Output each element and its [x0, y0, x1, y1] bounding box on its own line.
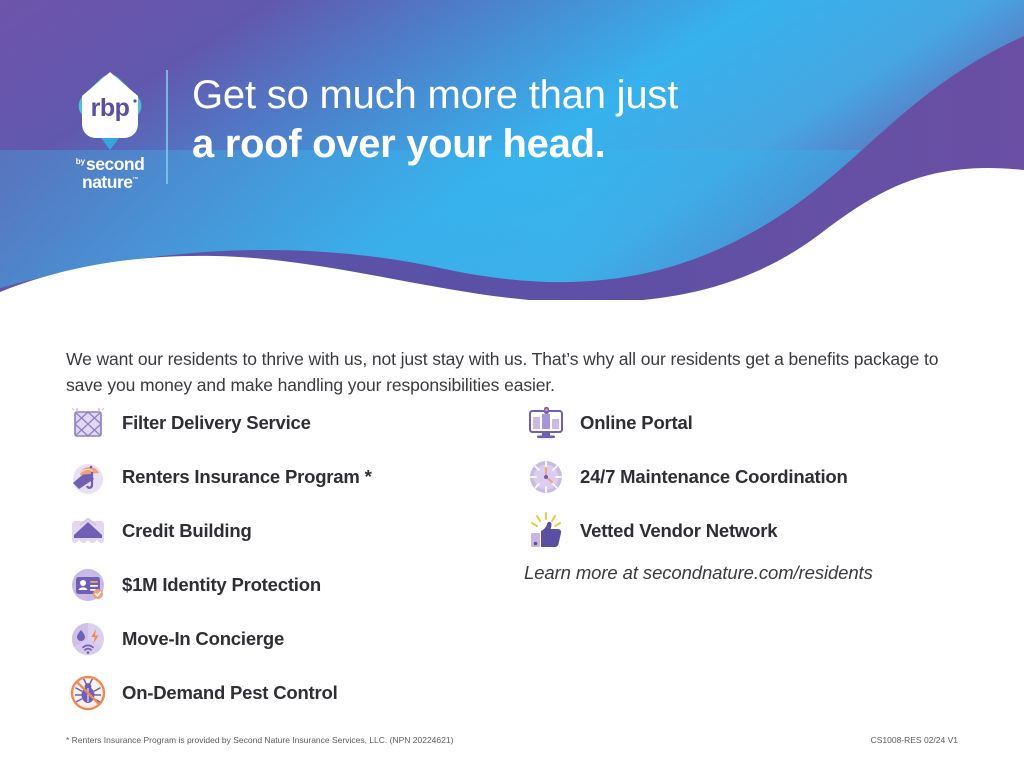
benefit-label: Filter Delivery Service: [122, 412, 311, 434]
benefits-column-right: Online Portal 24/7 Mai: [524, 396, 994, 558]
logo-second-text: second: [86, 156, 144, 172]
clock-icon: [524, 455, 568, 499]
footer-document-code: CS1008-RES 02/24 V1: [871, 735, 958, 745]
logo-nature-label: nature: [82, 172, 132, 192]
id-badge-icon: [66, 563, 110, 607]
page-title: Get so much more than just a roof over y…: [192, 72, 678, 168]
benefit-item-renters-insurance: Renters Insurance Program *: [66, 450, 506, 504]
benefit-item-credit-building: Credit Building: [66, 504, 506, 558]
benefit-item-identity-protection: $1M Identity Protection: [66, 558, 506, 612]
thumbs-up-icon: [524, 509, 568, 553]
utilities-concierge-icon: [66, 617, 110, 661]
benefit-item-pest-control: On-Demand Pest Control: [66, 666, 506, 720]
footer-disclaimer: * Renters Insurance Program is provided …: [66, 735, 453, 745]
logo-by-text: by: [76, 158, 85, 165]
logo-nature-text: nature™: [62, 174, 158, 190]
benefit-label: Credit Building: [122, 520, 252, 542]
benefit-item-maintenance-coordination: 24/7 Maintenance Coordination: [524, 450, 994, 504]
learn-more-text: Learn more at secondnature.com/residents: [524, 562, 873, 584]
rbp-badge-icon: rbp: [67, 66, 153, 152]
monitor-icon: [524, 401, 568, 445]
benefit-label: On-Demand Pest Control: [122, 682, 338, 704]
benefit-label: Vetted Vendor Network: [580, 520, 777, 542]
benefit-label: Online Portal: [580, 412, 693, 434]
logo-byline: bysecond nature™: [62, 156, 158, 190]
svg-text:rbp: rbp: [91, 94, 130, 122]
no-pest-icon: [66, 671, 110, 715]
umbrella-icon: [66, 455, 110, 499]
logo-trademark-symbol: ™: [132, 177, 138, 183]
rbp-logo-mark: rbp: [67, 66, 153, 152]
intro-paragraph: We want our residents to thrive with us,…: [66, 346, 946, 399]
benefit-item-online-portal: Online Portal: [524, 396, 994, 450]
benefit-label: Move-In Concierge: [122, 628, 284, 650]
air-filter-icon: [66, 401, 110, 445]
benefit-label: $1M Identity Protection: [122, 574, 321, 596]
rbp-logo: rbp bysecond nature™: [62, 66, 158, 188]
benefit-label: Renters Insurance Program *: [122, 466, 372, 488]
benefit-item-move-in-concierge: Move-In Concierge: [66, 612, 506, 666]
header-vertical-divider: [166, 70, 168, 184]
benefit-item-vetted-vendor-network: Vetted Vendor Network: [524, 504, 994, 558]
benefits-column-left: Filter Delivery Service Renters Insuranc…: [66, 396, 506, 720]
benefit-item-filter-delivery: Filter Delivery Service: [66, 396, 506, 450]
headline-line-1: Get so much more than just: [192, 72, 678, 119]
credit-stars-icon: [66, 509, 110, 553]
headline-line-2: a roof over your head.: [192, 121, 678, 168]
benefit-label: 24/7 Maintenance Coordination: [580, 466, 848, 488]
